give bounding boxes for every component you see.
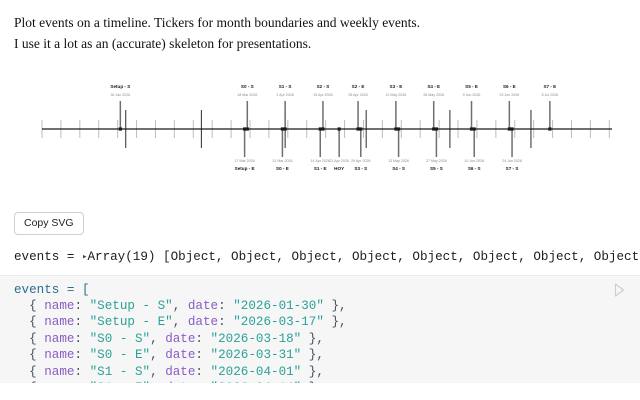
event-marker[interactable]	[119, 127, 122, 130]
play-triangle-icon[interactable]	[613, 283, 626, 297]
code-line-entry: { name: "Setup - E", date: "2026-03-17" …	[14, 314, 640, 330]
event-date: 15 Apr 2026	[313, 93, 332, 97]
event-marker[interactable]	[510, 127, 513, 130]
event-name: S7 - S	[506, 166, 519, 171]
event-name: S2 - S	[317, 84, 330, 89]
event-name: S1 - E	[314, 166, 327, 171]
event-name: Setup - E	[235, 166, 255, 171]
events-above-group: 30 Jan 2026Setup - S18 Mar 2026S0 - S1 A…	[110, 84, 558, 131]
code-entries: { name: "Setup - S", date: "2026-01-30" …	[14, 298, 640, 383]
console-value: Array(19) [Object, Object, Object, Objec…	[87, 250, 640, 264]
code-line-entry: { name: "S0 - S", date: "2026-03-18" },	[14, 331, 640, 347]
disclosure-triangle-icon[interactable]: ▸	[82, 249, 87, 265]
prose-line-2: I use it a lot as an (accurate) skeleton…	[14, 33, 626, 54]
intro-prose: Plot events on a timeline. Tickers for m…	[0, 0, 640, 54]
event-date: 29 Apr 2026	[351, 159, 370, 163]
event-date: 28 Apr 2026	[348, 93, 367, 97]
prose-line-1: Plot events on a timeline. Tickers for m…	[14, 12, 626, 33]
event-name: S6 - S	[468, 166, 481, 171]
event-marker[interactable]	[359, 127, 362, 130]
event-name: Setup - S	[110, 84, 130, 89]
event-marker[interactable]	[243, 127, 246, 130]
event-date: 21 Apr 2026	[329, 159, 348, 163]
event-name: S2 - E	[352, 84, 365, 89]
console-variable-name: events =	[14, 250, 82, 264]
code-line-entry: { name: "S1 - E", date: "2026-04-14" },	[14, 380, 640, 383]
event-name: S7 - E	[543, 84, 556, 89]
event-name: S0 - S	[241, 84, 254, 89]
event-date: 14 Apr 2026	[311, 159, 330, 163]
event-date: 17 Mar 2026	[235, 159, 255, 163]
events-below-group: 17 Mar 2026Setup - E31 Mar 2026S0 - E14 …	[235, 127, 522, 171]
event-marker[interactable]	[281, 127, 284, 130]
code-line-entry: { name: "S0 - E", date: "2026-03-31" },	[14, 347, 640, 363]
event-date: 24 Jun 2026	[502, 159, 522, 163]
event-marker[interactable]	[548, 127, 551, 130]
event-date: 18 Mar 2026	[237, 93, 257, 97]
code-line-entry: { name: "S1 - S", date: "2026-04-01" },	[14, 364, 640, 380]
timeline-figure: 30 Jan 2026Setup - S18 Mar 2026S0 - S1 A…	[0, 74, 640, 204]
event-date: 30 Jan 2026	[110, 93, 130, 97]
copy-svg-button[interactable]: Copy SVG	[14, 212, 84, 235]
event-name: S5 - S	[430, 166, 443, 171]
event-date: 13 May 2026	[388, 159, 409, 163]
event-date: 1 Apr 2026	[276, 93, 293, 97]
event-name: S4 - S	[392, 166, 405, 171]
event-date: 10 Jun 2026	[464, 159, 484, 163]
event-date: 31 Mar 2026	[272, 159, 292, 163]
code-line-entry: { name: "Setup - S", date: "2026-01-30" …	[14, 298, 640, 314]
event-name: S0 - E	[276, 166, 289, 171]
event-marker[interactable]	[319, 127, 322, 130]
event-date: 26 May 2026	[423, 93, 444, 97]
event-date: 27 May 2026	[426, 159, 447, 163]
console-output-line[interactable]: events = ▸Array(19) [Object, Object, Obj…	[0, 235, 640, 275]
event-date: 23 Jun 2026	[499, 93, 519, 97]
event-marker[interactable]	[473, 127, 476, 130]
event-name: S3 - S	[354, 166, 367, 171]
figure-toolbar: Copy SVG	[0, 204, 640, 235]
event-name: S6 - E	[503, 84, 516, 89]
event-name: S1 - S	[279, 84, 292, 89]
event-marker[interactable]	[435, 127, 438, 130]
timeline-svg[interactable]: 30 Jan 2026Setup - S18 Mar 2026S0 - S1 A…	[0, 74, 640, 204]
event-date: 12 May 2026	[385, 93, 406, 97]
code-editor-block[interactable]: events = [ { name: "Setup - S", date: "2…	[0, 275, 640, 383]
event-name: S3 - E	[390, 84, 403, 89]
event-name: S4 - E	[427, 84, 440, 89]
event-marker[interactable]	[338, 127, 341, 130]
event-marker[interactable]	[397, 127, 400, 130]
event-name: HOY	[334, 166, 344, 171]
event-name: S5 - E	[465, 84, 478, 89]
event-date: 9 Jun 2026	[463, 93, 481, 97]
code-line-header: events = [	[14, 282, 640, 298]
event-date: 8 Jul 2026	[542, 93, 559, 97]
